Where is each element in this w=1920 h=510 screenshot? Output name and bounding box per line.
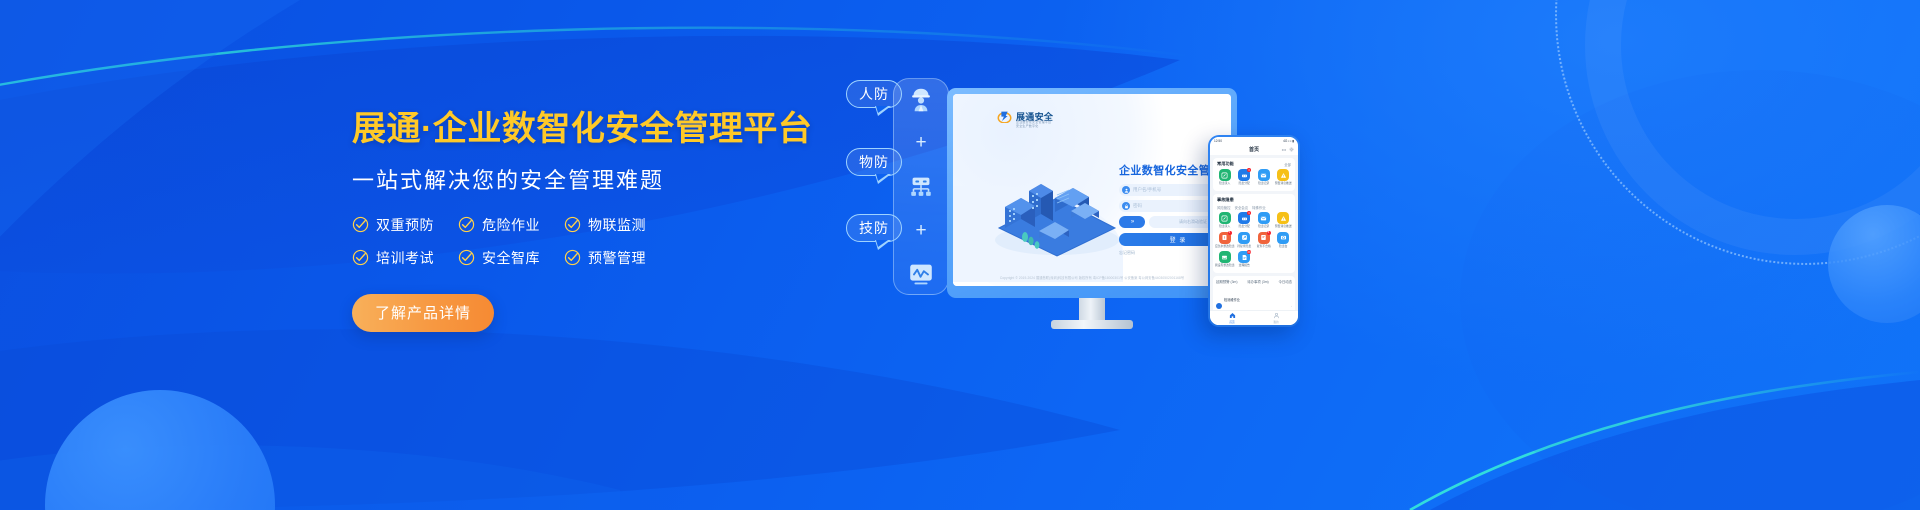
grid-item[interactable]: 3 隐患分配 [1235,169,1255,185]
feature-item: 安全智库 [458,248,564,268]
status-indicators: 4G ▪ ▪ ▮ [1283,139,1294,143]
grid-item-label: 待复查隐患 [1234,245,1254,248]
learn-more-button[interactable]: 了解产品详情 [352,294,494,332]
grid-item-label: 隐患录入 [1215,225,1235,228]
user-icon [1273,312,1280,319]
feature-item: 双重预防 [352,215,458,235]
grid-item-label: 隐患记录 [1254,225,1274,228]
badge-label: 物防 [859,152,889,172]
defense-rail-icons: + + [897,84,945,289]
captcha-handle-icon[interactable]: » [1119,216,1145,228]
mail-icon [1258,169,1270,181]
grid-item-label: 预警消息推送 [1273,182,1293,185]
monitor-bezel: 展通安全 企业数智化安全管理平台 安全生产数字化 [947,88,1237,298]
card-header: 常用功能 全部 [1215,161,1293,169]
phone-card-common-functions: 常用功能 全部 隐患录入 3 隐患分配 隐患记录 [1213,158,1295,191]
feature-item: 预警管理 [564,248,670,268]
mail-icon [1258,212,1270,224]
feature-label: 物联监测 [588,215,646,235]
tab-home[interactable]: 首页 [1229,312,1236,324]
card-tab[interactable]: 安全会议 [1235,205,1249,210]
gear-icon[interactable] [1289,147,1294,152]
mobile-phone-mockup: 12:50 4G ▪ ▪ ▮ 首页 ••• 常用功能 全部 [1208,135,1300,327]
grid-item-label: 隐患记录 [1254,182,1274,185]
activity-tab[interactable]: 今日动态 [1278,279,1292,284]
activity-tab[interactable]: 延期预警 (3m) [1216,279,1237,284]
lock-icon [1122,202,1130,210]
brand-mark-icon [997,109,1012,123]
badge-label: 人防 [859,84,889,104]
badge-count: 20 [1247,250,1251,254]
phone-status-bar: 12:50 4G ▪ ▪ ▮ [1210,137,1298,144]
feature-item: 培训考试 [352,248,458,268]
card-tab[interactable]: 风险管控 [1217,205,1231,210]
grid-item[interactable]: 隐患记录 [1254,169,1274,185]
hardhat-worker-icon [906,84,936,114]
card-title: 常用功能 [1217,161,1234,167]
badge-count: 3 [1228,231,1232,235]
camera-icon [1277,232,1289,244]
list-item-title: 检测维作业 [1224,298,1240,302]
grid-item[interactable]: 3 应急水整改隐患 [1215,232,1235,248]
promo-banner: 展通·企业数智化安全管理平台 一站式解决您的安全管理难题 双重预防 危险作业 物 [0,0,1920,510]
forgot-password-link[interactable]: 忘记密码 [1119,250,1135,256]
card-action-link[interactable]: 全部 [1284,162,1291,167]
grid-item[interactable]: 隐患台 [1274,232,1294,248]
icon-grid: 隐患录入 3 隐患分配 隐患记录 预警消息推送 [1215,212,1293,270]
card-header: 事故隐患 [1215,197,1293,205]
badge-count: 3 [1247,168,1251,172]
inbox-icon [1219,251,1231,263]
activity-tab[interactable]: 待办事项 (3m) [1247,279,1268,284]
check-circle-icon [352,216,369,233]
phone-card-hazards: 事故隐患 风险管控 安全会议 特殊作业 隐患录入 3 隐患分配 [1213,194,1295,273]
feature-label: 双重预防 [376,215,434,235]
grid-item-label: 隐患分配 [1234,182,1254,185]
tab-profile[interactable]: 我的 [1273,312,1280,324]
network-device-icon [906,172,936,202]
grid-item-label: 预警消息推送 [1273,225,1293,228]
avatar [1216,303,1222,309]
phone-screen: 12:50 4G ▪ ▪ ▮ 首页 ••• 常用功能 全部 [1210,137,1298,325]
recheck-icon [1238,232,1250,244]
warning-icon [1277,212,1289,224]
feature-item: 危险作业 [458,215,564,235]
grid-item[interactable]: 隐患录入 [1215,169,1235,185]
status-time: 12:50 [1214,139,1222,143]
brand-logo: 展通安全 企业数智化安全管理平台 安全生产数字化 [997,109,1053,123]
check-circle-icon [458,216,475,233]
warning-icon [1277,169,1289,181]
grid-item[interactable]: 3 隐患分配 [1235,212,1255,228]
grid-item-label: 隐患台 [1273,245,1293,248]
isometric-city-illustration [985,166,1125,258]
defense-badge-wufang[interactable]: 物防 [846,148,902,176]
home-icon [1229,312,1236,319]
login-footer-copyright: Copyright © 2019-2024 展通慧联(深圳)科技有限公司 版权所… [953,275,1231,280]
monitor-screen: 展通安全 企业数智化安全管理平台 安全生产数字化 [953,94,1231,286]
feature-label: 培训考试 [376,248,434,268]
plus-separator: + [915,133,926,152]
grid-item-label: 应急水整改隐患 [1215,245,1235,248]
feature-label: 安全智库 [482,248,540,268]
edit-square-icon [1219,169,1231,181]
tab-label: 我的 [1273,320,1278,324]
check-circle-icon [564,249,581,266]
phone-nav-bar: 首页 ••• [1210,144,1298,155]
grid-item[interactable]: 待复查隐患 [1235,232,1255,248]
monitor-waveform-icon [906,259,936,289]
card-tabs: 风险管控 安全会议 特殊作业 [1215,205,1293,212]
login-page: 展通安全 企业数智化安全管理平台 安全生产数字化 [953,94,1231,286]
brand-tagline: 企业数智化安全管理平台 安全生产数字化 [1016,120,1053,128]
grid-item[interactable]: 隐患录入 [1215,212,1235,228]
phone-nav-title: 首页 [1249,146,1259,153]
grid-item[interactable]: 隐患记录 [1254,212,1274,228]
defense-badge-jifang[interactable]: 技防 [846,214,902,242]
tab-label: 首页 [1229,320,1234,324]
grid-item[interactable]: 6 复查不合格 [1254,232,1274,248]
phone-tab-bar: 首页 我的 [1210,310,1298,325]
feature-label: 危险作业 [482,215,540,235]
edit-square-icon [1219,212,1231,224]
monitor-base [1051,320,1133,329]
feature-list: 双重预防 危险作业 物联监测 培训考试 [352,215,672,268]
check-circle-icon [458,249,475,266]
grid-item[interactable]: 预警消息推送 [1274,169,1294,185]
more-dots-icon[interactable]: ••• [1282,147,1286,152]
grid-item-label: 我设有整改隐患 [1215,264,1235,267]
grid-item[interactable]: 20 治理报告 [1235,251,1255,267]
grid-item-label: 治理报告 [1234,264,1254,267]
grid-item-label: 复查不合格 [1254,245,1274,248]
activity-list-tabs: 延期预警 (3m) 待办事项 (3m) 今日动态 [1216,279,1292,286]
check-circle-icon [564,216,581,233]
plus-separator: + [915,221,926,240]
username-placeholder: 用户名/手机号 [1133,187,1161,193]
password-placeholder: 密码 [1133,203,1142,209]
grid-item[interactable]: 预警消息推送 [1274,212,1294,228]
badge-count: 6 [1267,231,1271,235]
chevron-right-icon: › [1291,304,1292,308]
page-subtitle: 一站式解决您的安全管理难题 [352,163,822,195]
badge-count: 3 [1247,211,1251,215]
page-title: 展通·企业数智化安全管理平台 [352,108,822,151]
badge-label: 技防 [859,218,889,238]
grid-item-label: 隐患分配 [1234,225,1254,228]
check-circle-icon [352,249,369,266]
grid-item-label: 隐患录入 [1215,182,1235,185]
card-title: 事故隐患 [1217,197,1234,203]
defense-badge-renfang[interactable]: 人防 [846,80,902,108]
user-icon [1122,186,1130,194]
grid-item[interactable]: 我设有整改隐患 [1215,251,1235,267]
card-tab[interactable]: 特殊作业 [1252,205,1266,210]
banner-copy-block: 展通·企业数智化安全管理平台 一站式解决您的安全管理难题 双重预防 危险作业 物 [352,108,822,332]
feature-item: 物联监测 [564,215,670,235]
icon-grid: 隐患录入 3 隐患分配 隐患记录 预警消息推送 [1215,169,1293,188]
feature-label: 预警管理 [588,248,646,268]
desktop-monitor-mockup: 展通安全 企业数智化安全管理平台 安全生产数字化 [947,88,1237,298]
